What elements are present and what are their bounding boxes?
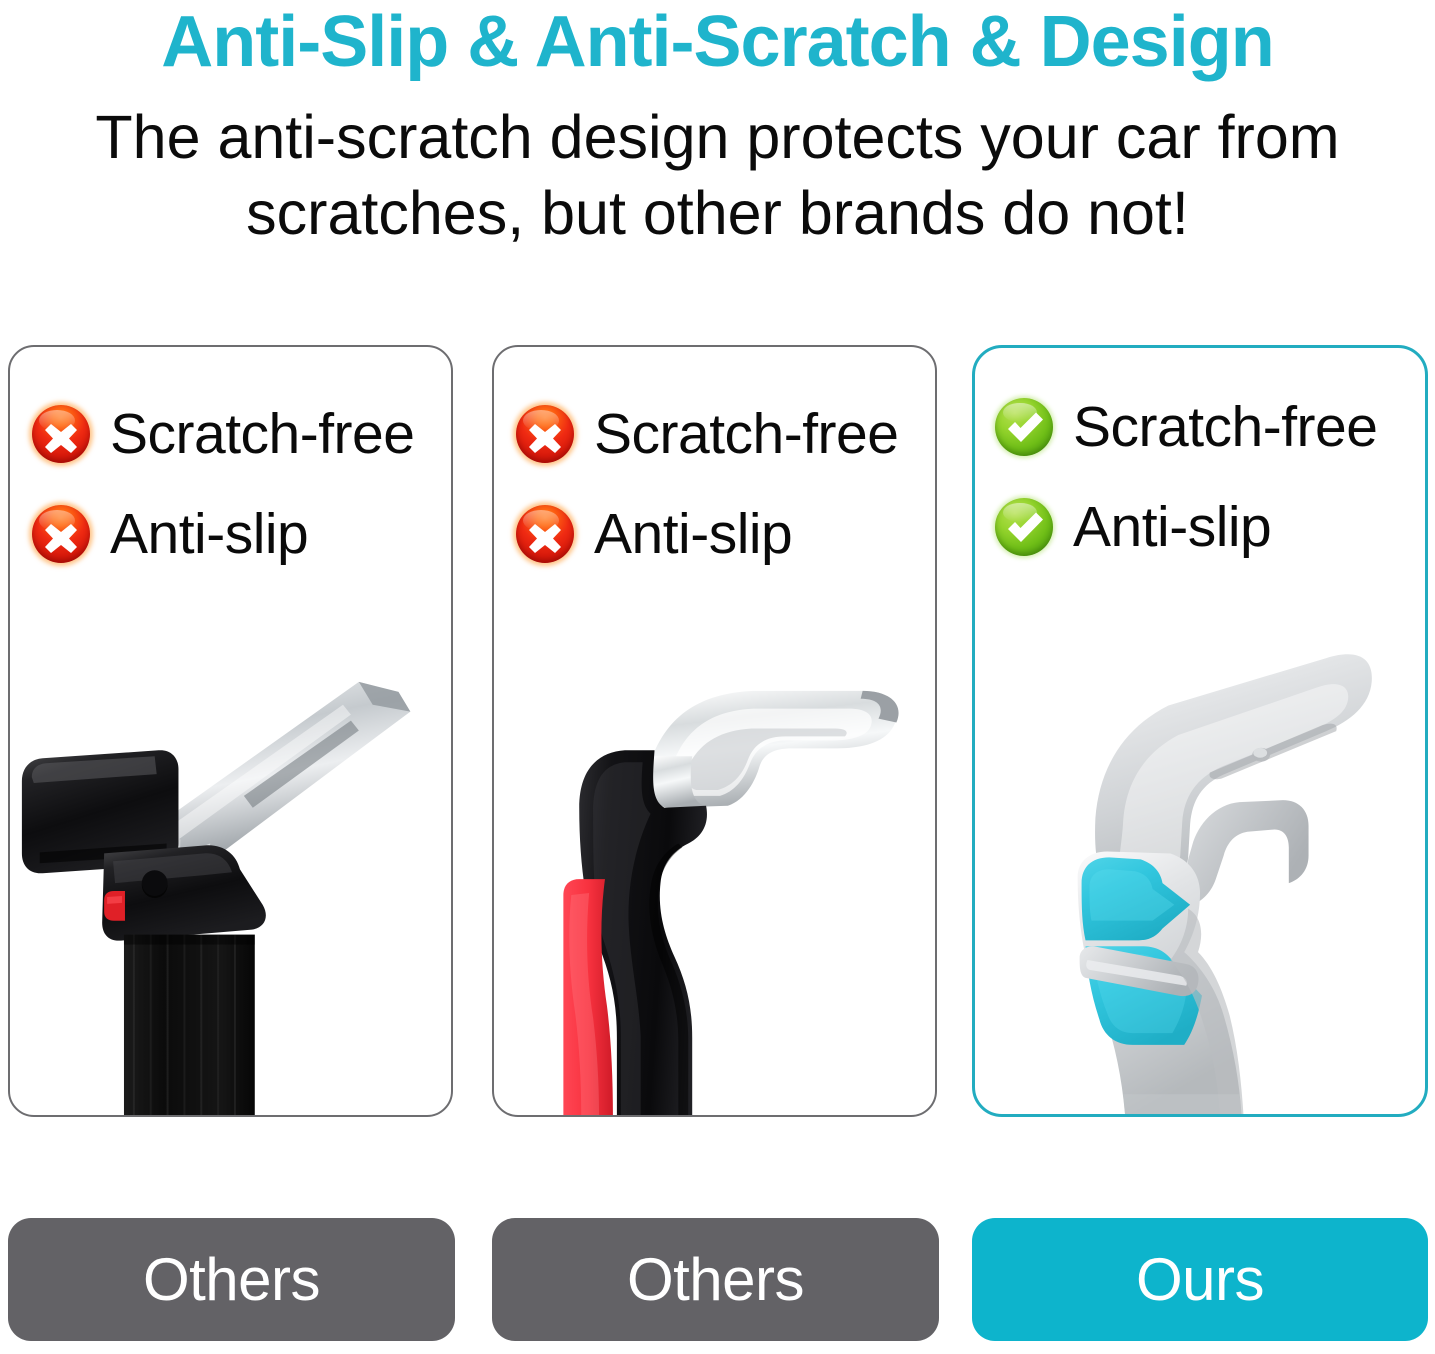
feature-label: Anti-slip <box>594 501 792 567</box>
x-circle-icon <box>516 405 574 463</box>
feature-row: Scratch-free <box>32 397 414 471</box>
footer-label-others-1: Others <box>8 1218 455 1341</box>
comparison-card-ours: Scratch-free Anti-slip <box>972 345 1428 1117</box>
footer-label-row: Others Others Ours <box>0 1218 1435 1342</box>
check-circle-icon <box>995 398 1053 456</box>
feature-label: Anti-slip <box>110 501 308 567</box>
footer-label-others-2: Others <box>492 1218 939 1341</box>
feature-label: Scratch-free <box>1073 394 1377 460</box>
feature-list: Scratch-free Anti-slip <box>32 397 414 571</box>
feature-label: Anti-slip <box>1073 494 1271 560</box>
feature-row: Anti-slip <box>32 497 414 571</box>
comparison-card-others-2: Scratch-free Anti-slip <box>492 345 937 1117</box>
feature-label: Scratch-free <box>594 401 898 467</box>
comparison-card-row: Scratch-free Anti-slip <box>0 345 1435 1117</box>
footer-label-ours: Ours <box>972 1218 1428 1341</box>
feature-row: Anti-slip <box>516 497 898 571</box>
feature-row: Anti-slip <box>995 490 1377 564</box>
feature-list: Scratch-free Anti-slip <box>995 390 1377 564</box>
x-circle-icon <box>32 405 90 463</box>
check-circle-icon <box>995 498 1053 556</box>
x-circle-icon <box>516 505 574 563</box>
feature-row: Scratch-free <box>516 397 898 471</box>
comparison-infographic: Anti-Slip & Anti-Scratch & Design The an… <box>0 0 1435 1354</box>
product-image-gray-cyan-antislip-safety-hammer <box>975 644 1425 1114</box>
feature-list: Scratch-free Anti-slip <box>516 397 898 571</box>
page-subtitle: The anti-scratch design protects your ca… <box>46 100 1389 251</box>
x-circle-icon <box>32 505 90 563</box>
product-image-black-window-breaker-hammer <box>10 645 451 1115</box>
product-image-black-red-chrome-hook-hammer <box>494 645 935 1115</box>
page-title: Anti-Slip & Anti-Scratch & Design <box>0 2 1435 83</box>
comparison-card-others-1: Scratch-free Anti-slip <box>8 345 453 1117</box>
feature-row: Scratch-free <box>995 390 1377 464</box>
feature-label: Scratch-free <box>110 401 414 467</box>
